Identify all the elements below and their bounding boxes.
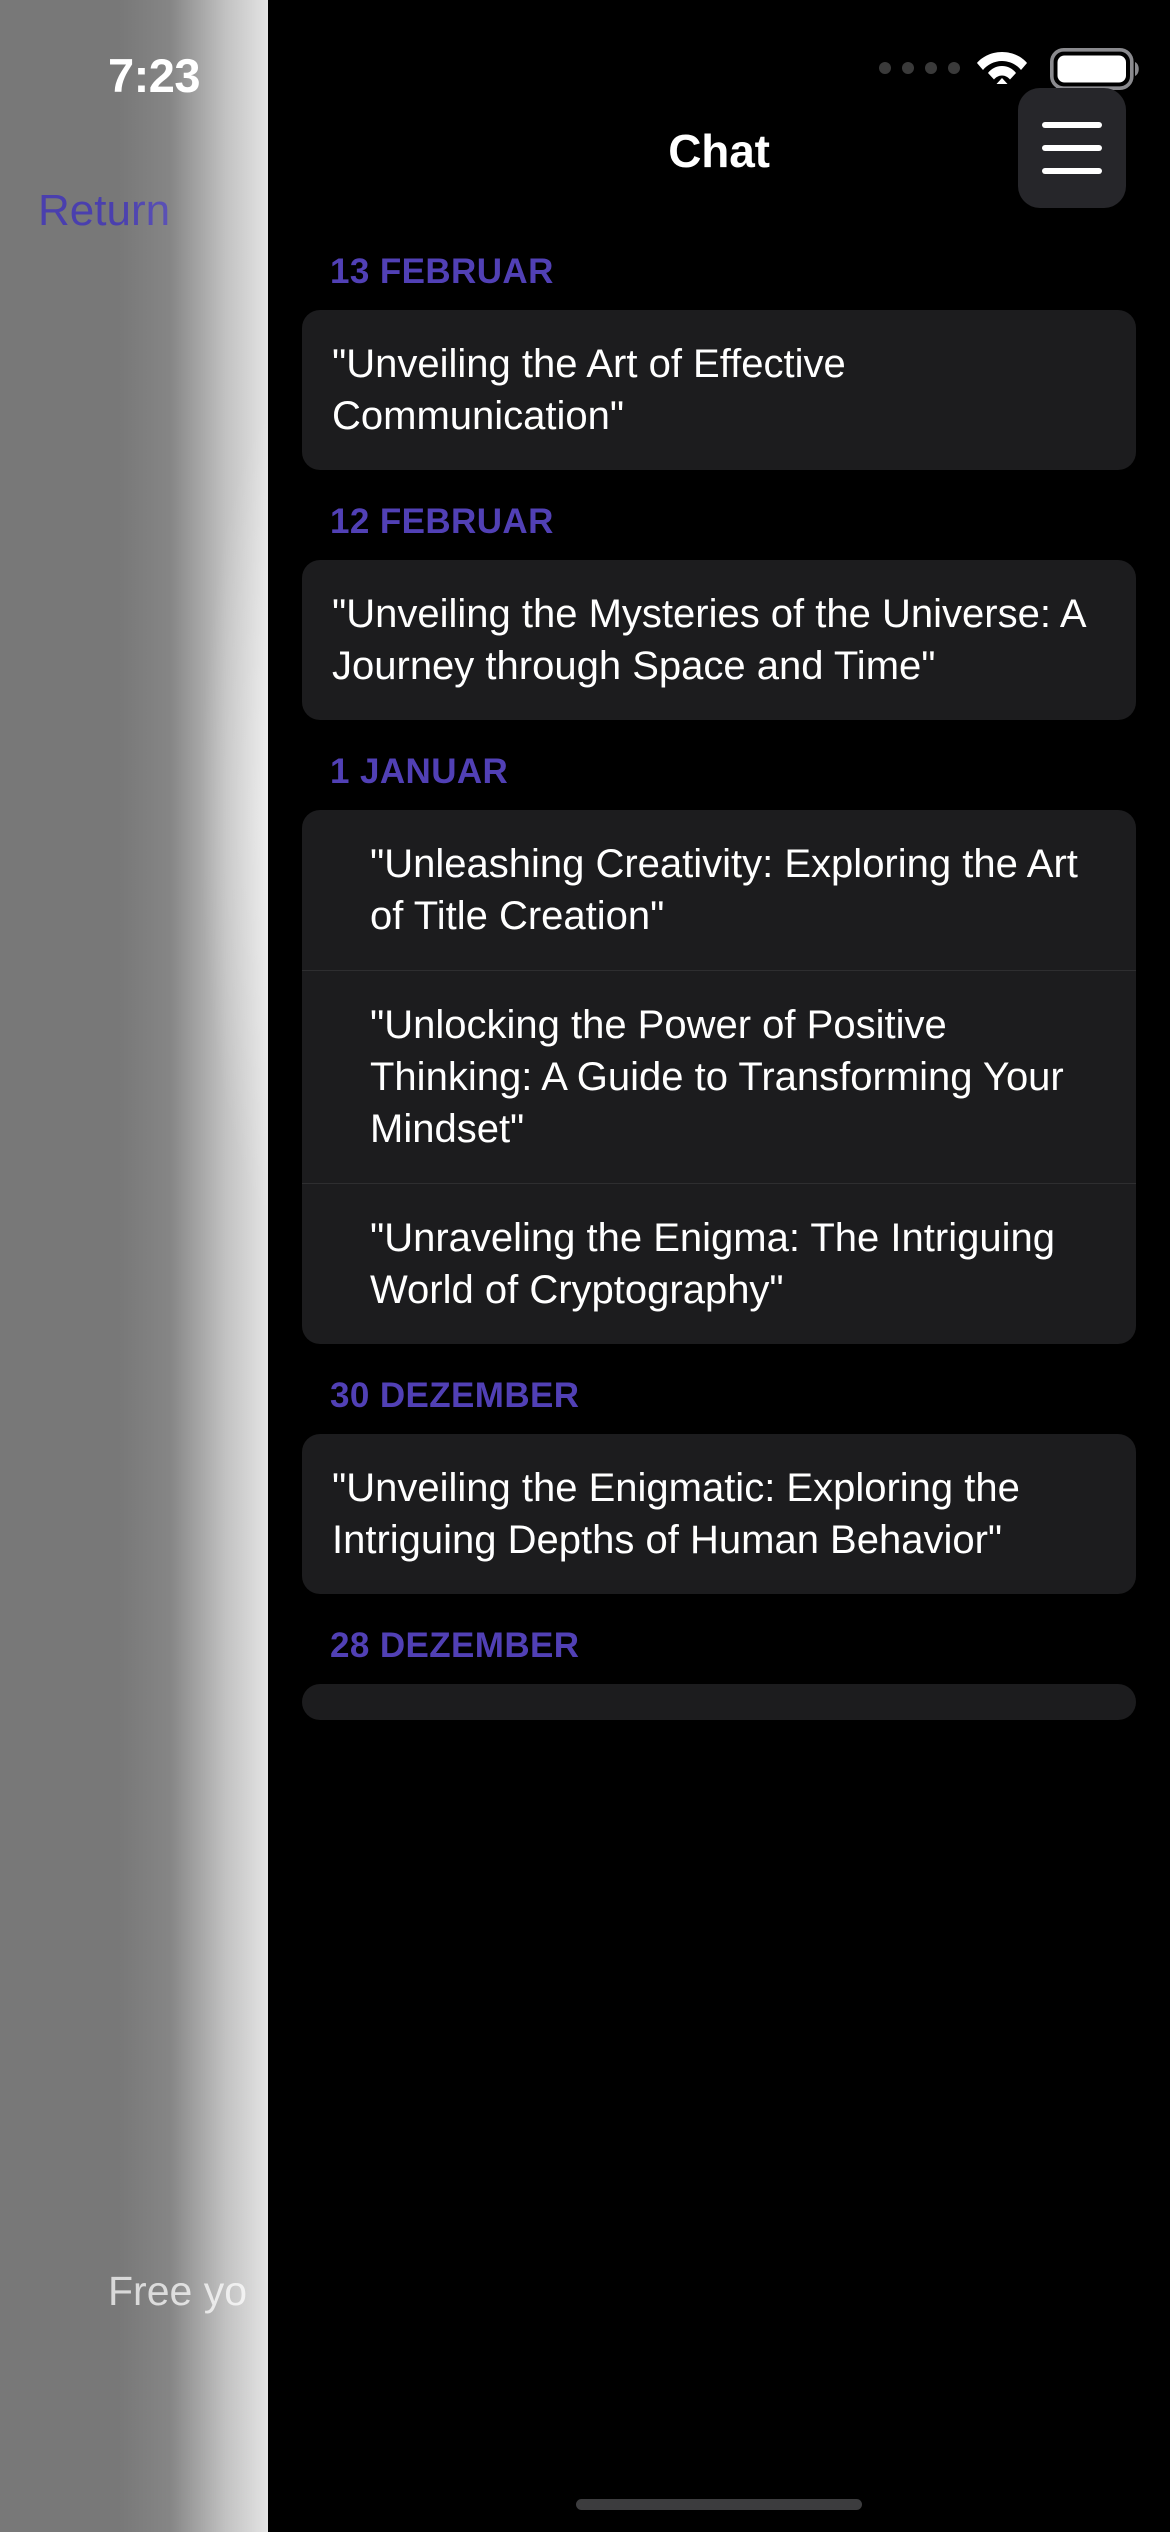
hamburger-menu-icon[interactable] [1018, 88, 1126, 208]
panel-edge-glow [118, 0, 268, 2532]
chat-list[interactable]: 13 FEBRUAR"Unveiling the Art of Effectiv… [268, 220, 1170, 2532]
menu-line-3 [1042, 168, 1102, 174]
chat-card: "Unleashing Creativity: Exploring the Ar… [302, 810, 1136, 1344]
chat-list-item[interactable]: "Unveiling the Enigmatic: Exploring the … [302, 1434, 1136, 1594]
chat-day-group: 30 DEZEMBER"Unveiling the Enigmatic: Exp… [268, 1344, 1170, 1594]
chat-item-title: "Unraveling the Enigma: The Intriguing W… [370, 1212, 1102, 1316]
chat-list-item[interactable]: "Unveiling the Art of Effective Communic… [302, 310, 1136, 470]
battery-full-icon [1050, 48, 1142, 90]
back-link[interactable]: Return [38, 186, 170, 236]
chat-day-group: 13 FEBRUAR"Unveiling the Art of Effectiv… [268, 220, 1170, 470]
background-panel: 7:23 Return Free yo [0, 0, 268, 2532]
wifi-icon [975, 45, 1029, 85]
chat-item-title: "Unveiling the Enigmatic: Exploring the … [332, 1462, 1102, 1566]
chat-item-title: "Unlocking the Power of Positive Thinkin… [370, 999, 1102, 1155]
chat-list-item[interactable]: "Unlocking the Power of Positive Thinkin… [302, 970, 1136, 1183]
background-partial-text: Free yo [108, 2268, 247, 2315]
chat-item-title: "Unveiling the Art of Effective Communic… [332, 338, 1102, 442]
home-indicator[interactable] [576, 2499, 862, 2510]
chat-day-group: 1 JANUAR"Unleashing Creativity: Explorin… [268, 720, 1170, 1344]
chat-card [302, 1684, 1136, 1720]
chat-item-title: "Unleashing Creativity: Exploring the Ar… [370, 838, 1102, 942]
chat-day-group: 12 FEBRUAR"Unveiling the Mysteries of th… [268, 470, 1170, 720]
menu-line-1 [1042, 122, 1102, 128]
day-header: 12 FEBRUAR [302, 470, 1136, 560]
phone-screen: 7:23 Return Free yo Chat [0, 0, 1170, 2532]
cellular-dots-icon [879, 62, 960, 74]
panel-edge-highlight [8, 190, 268, 1440]
chat-list-item[interactable]: "Unleashing Creativity: Exploring the Ar… [302, 810, 1136, 970]
chat-card: "Unveiling the Art of Effective Communic… [302, 310, 1136, 470]
background-status-time: 7:23 [108, 48, 200, 103]
chat-day-group: 28 DEZEMBER [268, 1594, 1170, 1720]
chat-sheet: Chat 13 FEBRUAR"Unveiling the Art of Eff… [268, 0, 1170, 2532]
navigation-bar: Chat [268, 100, 1170, 220]
day-header: 1 JANUAR [302, 720, 1136, 810]
chat-card: "Unveiling the Mysteries of the Universe… [302, 560, 1136, 720]
day-header: 28 DEZEMBER [302, 1594, 1136, 1684]
chat-card: "Unveiling the Enigmatic: Exploring the … [302, 1434, 1136, 1594]
chat-list-item[interactable]: "Unveiling the Mysteries of the Universe… [302, 560, 1136, 720]
menu-line-2 [1042, 145, 1102, 151]
chat-list-item[interactable]: "Unraveling the Enigma: The Intriguing W… [302, 1183, 1136, 1344]
day-header: 13 FEBRUAR [302, 220, 1136, 310]
chat-item-title: "Unveiling the Mysteries of the Universe… [332, 588, 1102, 692]
status-bar [268, 0, 1170, 100]
day-header: 30 DEZEMBER [302, 1344, 1136, 1434]
